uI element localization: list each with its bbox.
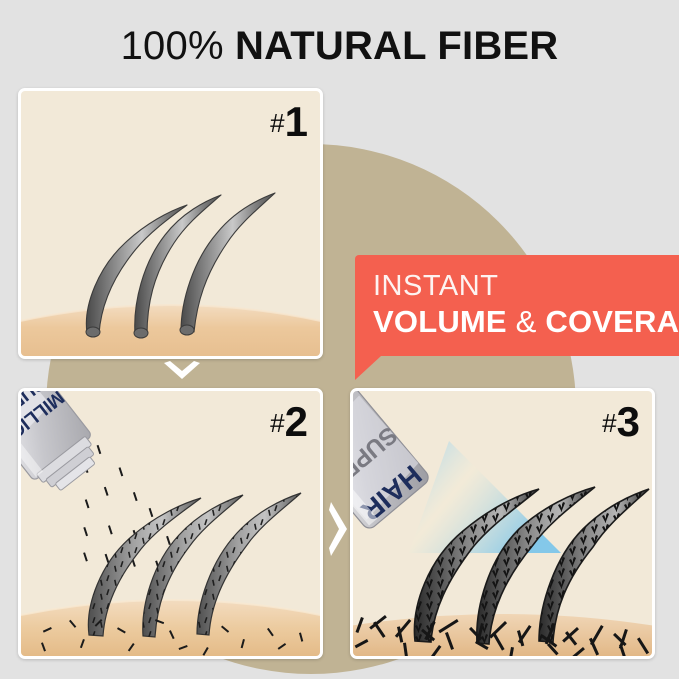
infographic-root: 100% NATURAL FIBER: [0, 0, 679, 679]
page-title: 100% NATURAL FIBER: [0, 22, 679, 70]
callout-coverage: COVERAGE: [545, 304, 679, 339]
step-panel-1: #1: [18, 88, 323, 359]
step-panel-2: SUPER MILLION: [18, 388, 323, 659]
panel-1-digit: 1: [285, 98, 307, 145]
spray-bottle: SUPER HAIR: [353, 391, 433, 532]
panel-3-number: #3: [602, 401, 639, 443]
callout-line-volume-coverage: VOLUME & COVERAGE: [373, 303, 679, 341]
step-panel-3: SUPER HAIR: [350, 388, 655, 659]
callout-text: INSTANT VOLUME & COVERAGE: [373, 269, 679, 341]
shaker-bottle: SUPER MILLION: [21, 391, 108, 502]
title-percent: 100%: [121, 24, 224, 68]
panel-2-hash: #: [270, 408, 284, 438]
title-main: NATURAL FIBER: [235, 24, 558, 68]
panel-1-number: #1: [270, 101, 307, 143]
panel-2-digit: 2: [285, 398, 307, 445]
callout-volume: VOLUME: [373, 304, 507, 339]
callout-banner: INSTANT VOLUME & COVERAGE: [355, 255, 679, 356]
panel-1-hash: #: [270, 108, 284, 138]
chevron-down-icon: [160, 358, 204, 386]
panel-3-hash: #: [602, 408, 616, 438]
panel-2-number: #2: [270, 401, 307, 443]
callout-tail: [355, 356, 381, 380]
panel-3-digit: 3: [617, 398, 639, 445]
chevron-right-icon: [326, 498, 352, 560]
callout-ampersand: &: [516, 304, 537, 339]
callout-line-instant: INSTANT: [373, 269, 679, 303]
